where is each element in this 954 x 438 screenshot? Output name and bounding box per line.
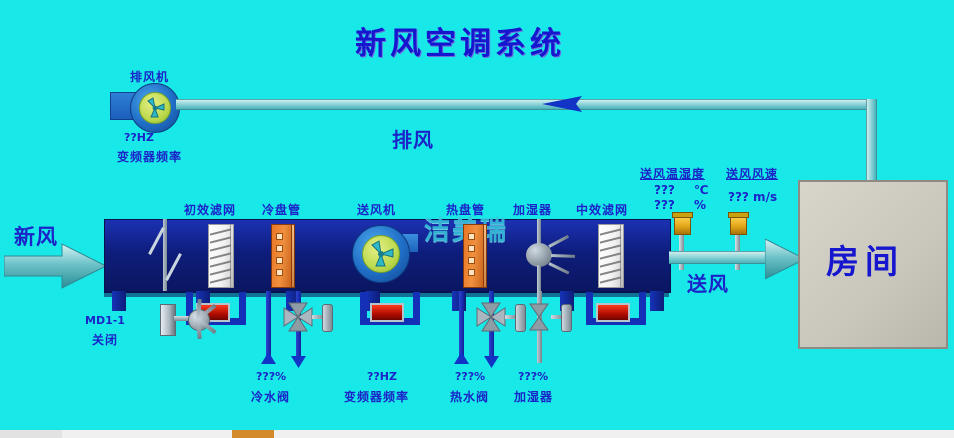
humidifier-stem-lower [537, 265, 541, 291]
room-label: 房间 [826, 235, 904, 283]
component-label-supply-fan: 送风机 [357, 201, 396, 218]
chilled-water-flow-arrow-icon [291, 352, 306, 372]
exhaust-fan-frequency-caption: 变频器频率 [117, 148, 182, 165]
exhaust-fan-frequency-value: ??HZ [124, 131, 154, 144]
chilled-valve-actuator[interactable] [322, 304, 333, 332]
temp-humidity-sensor-cap [672, 212, 693, 218]
supply-fan-dp-indicator [370, 303, 404, 322]
component-label-pre-filter: 初效滤网 [184, 201, 236, 218]
air-velocity-sensor-cap [728, 212, 749, 218]
supply-temp-humidity-title: 送风温湿度 [640, 165, 705, 182]
ahu-foot [112, 291, 126, 311]
humidifier-caption: 加湿器 [514, 388, 553, 405]
chilled-water-flow-arrow-icon [261, 352, 276, 372]
hot-valve-caption: 热水阀 [450, 388, 489, 405]
fan-blades-icon [140, 93, 170, 123]
exhaust-air-label: 排风 [392, 124, 434, 153]
medium-filter-element[interactable] [598, 224, 624, 288]
supply-humidity-value: ??? [654, 198, 675, 212]
component-label-medium-filter: 中效滤网 [576, 201, 628, 218]
humidifier-value: ???% [518, 370, 548, 383]
medium-filter-dp-indicator [596, 303, 630, 322]
exhaust-fan-impeller-icon [139, 92, 171, 124]
outdoor-damper-tag: MD1-1 [85, 314, 125, 327]
hvac-diagram-canvas: 新风空调系统 排风机 ??HZ 变频器频率 排风 新风 [0, 0, 954, 438]
supply-velocity-value: ??? m/s [728, 190, 777, 204]
supply-fan-frequency-value: ??HZ [367, 370, 397, 383]
hot-valve-actuator[interactable] [515, 304, 526, 332]
component-label-humidifier: 加湿器 [513, 201, 552, 218]
supply-humidity-unit: % [694, 198, 706, 212]
pre-filter-element[interactable] [208, 224, 234, 288]
chilled-water-valve[interactable] [281, 300, 315, 338]
supply-velocity-title: 送风风速 [726, 165, 778, 182]
taskbar-item-active[interactable] [232, 430, 274, 438]
page-title: 新风空调系统 [355, 18, 565, 63]
humidifier-valve-actuator[interactable] [561, 304, 572, 332]
exhaust-duct-horizontal [176, 99, 876, 110]
fan-blades-icon [363, 236, 399, 272]
hot-water-flow-arrow-icon [484, 352, 499, 372]
fresh-air-arrow-icon [4, 240, 108, 296]
supply-fan-impeller-icon [362, 235, 400, 273]
hot-water-valve[interactable] [474, 300, 508, 338]
heating-coil-element[interactable] [463, 224, 487, 288]
chilled-valve-value: ???% [256, 370, 286, 383]
outdoor-damper-status: 关闭 [92, 331, 118, 348]
humidifier-valve[interactable] [527, 300, 551, 338]
air-velocity-sensor-head[interactable] [730, 216, 747, 235]
supply-temp-value: ??? [654, 183, 675, 197]
component-label-cooling-coil: 冷盘管 [262, 201, 301, 218]
supply-fan-frequency-caption: 变频器频率 [344, 388, 409, 405]
temp-humidity-sensor-head[interactable] [674, 216, 691, 235]
supply-temp-unit: ℃ [694, 183, 709, 197]
chilled-valve-caption: 冷水阀 [251, 388, 290, 405]
hot-valve-value: ???% [455, 370, 485, 383]
hot-water-flow-arrow-icon [454, 352, 469, 372]
supply-air-label: 送风 [687, 268, 729, 297]
browser-bottom-strip [0, 430, 954, 438]
cooling-coil-element[interactable] [271, 224, 295, 288]
supply-duct [669, 251, 769, 264]
ahu-foot [650, 291, 664, 311]
taskbar-item[interactable] [0, 430, 62, 438]
component-label-heating-coil: 热盘管 [446, 201, 485, 218]
exhaust-flow-arrow-icon [536, 94, 582, 118]
